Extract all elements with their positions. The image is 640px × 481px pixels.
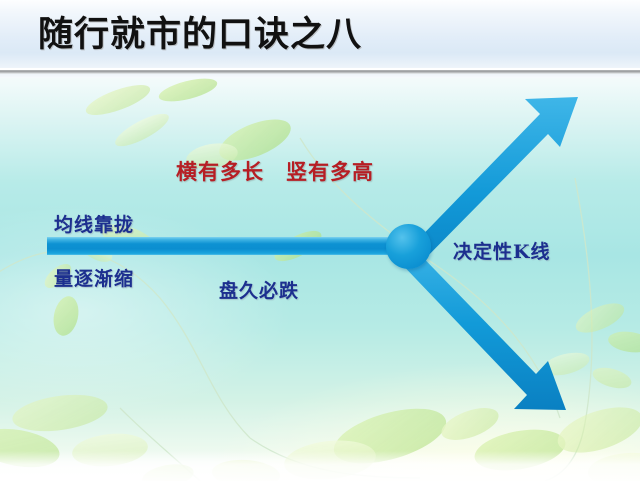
junction-node	[386, 224, 431, 269]
slide-header: 随行就市的口诀之八	[0, 0, 640, 68]
label-volume: 量逐渐缩	[54, 264, 134, 291]
horizontal-bar-arm	[47, 237, 412, 255]
label-consolidation: 盘久必跌	[219, 276, 299, 303]
label-decisive-kline: 决定性K线	[453, 237, 551, 264]
label-red-pair: 横有多长 竖有多高	[176, 156, 374, 186]
slide-body: 横有多长 竖有多高 均线靠拢 量逐渐缩 盘久必跌 决定性K线	[0, 78, 640, 481]
label-moving-average: 均线靠拢	[54, 210, 134, 237]
page-title: 随行就市的口诀之八	[38, 6, 362, 57]
slide-root: 随行就市的口诀之八	[0, 0, 640, 481]
